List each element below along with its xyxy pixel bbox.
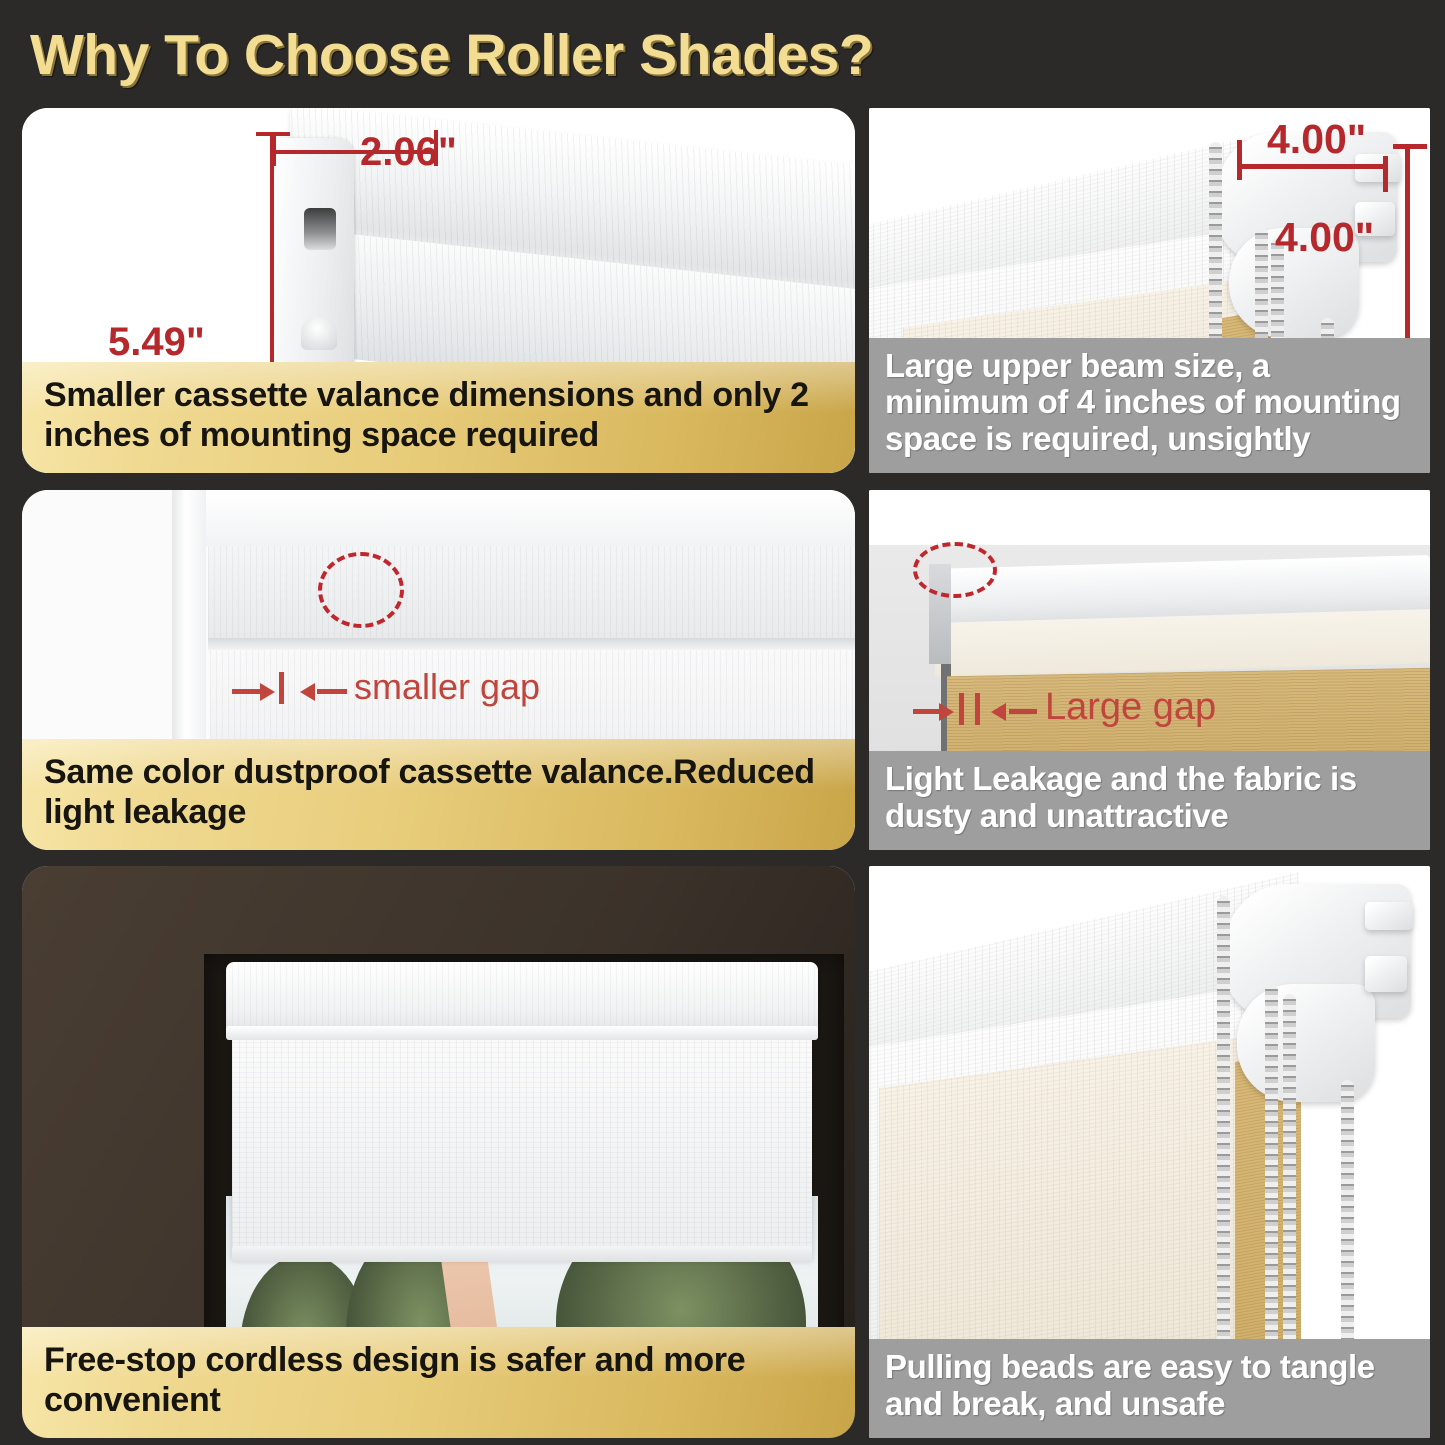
bead-chain-right [1341,1080,1354,1380]
height-dimension-tick-top [256,132,290,136]
height-dimension-label: 5.49" [108,320,205,365]
cassette-valance-headrail [226,962,818,1034]
panel-caption-text: Light Leakage and the fabric is dusty an… [885,761,1414,834]
shade-fabric-panel [232,1032,812,1258]
panel-caption-bar: Light Leakage and the fabric is dusty an… [869,751,1430,850]
panel-caption-bar: Smaller cassette valance dimensions and … [22,362,855,473]
bead-chain-inner [1283,994,1296,1384]
gap-arrow-right-head [300,683,315,701]
valance-shadow-line [208,638,855,650]
lower-bracket-body [1237,984,1375,1102]
panel-caption-text: Same color dustproof cassette valance.Re… [44,753,833,832]
shade-bottom-rail [232,1246,812,1262]
width-dimension-tick-left [1237,140,1242,180]
panel-caption-text: Smaller cassette valance dimensions and … [44,376,833,455]
height-dimension-label: 4.00" [1275,214,1374,261]
bead-chain-left [1217,896,1230,1386]
panel-caption-text: Pulling beads are easy to tangle and bre… [885,1349,1414,1422]
gap-callout-label: smaller gap [354,666,540,708]
cassette-end-bracket [274,138,354,396]
panel-cordless-design: Free-stop cordless design is safer and m… [22,866,855,1438]
gap-highlight-ellipse-icon [913,542,997,598]
height-dimension-line [1405,146,1410,346]
panel-caption-text: Free-stop cordless design is safer and m… [44,1341,833,1420]
gap-arrow-right-head [991,703,1006,721]
cassette-valance [208,546,855,638]
width-dimension-label: 4.00" [1267,116,1366,163]
comparison-grid: 2.06" 5.49" Smaller cassette valance dim… [0,108,1445,1445]
panel-light-leakage: Large gap Light Leakage and the fabric i… [869,490,1430,850]
panel-pulling-beads: Pulling beads are easy to tangle and bre… [869,866,1430,1438]
gap-measure-bar [279,672,284,704]
gap-arrow-left-shaft [913,709,941,714]
gap-callout-label: Large gap [1045,686,1216,729]
gap-arrow-right-shaft [317,689,347,694]
bracket-mount-tab-bottom [1365,956,1407,992]
bead-chain-middle [1265,984,1278,1384]
gap-highlight-ellipse-icon [318,552,404,628]
panel-caption-bar: Pulling beads are easy to tangle and bre… [869,1339,1430,1438]
bracket-mount-tab-top [1365,902,1413,930]
panel-dustproof-valance: smaller gap Same color dustproof cassett… [22,490,855,850]
window-header-trim [172,490,855,546]
width-dimension-label: 2.06" [360,130,457,175]
panel-caption-bar: Large upper beam size, a minimum of 4 in… [869,338,1430,473]
ceiling-area [869,490,1430,545]
panel-large-upper-beam: 4.00" 4.00" Large upper beam size, a min… [869,108,1430,473]
panel-caption-bar: Free-stop cordless design is safer and m… [22,1327,855,1438]
page-title: Why To Choose Roller Shades? [30,22,873,88]
height-dimension-tick-top [1393,144,1427,149]
panel-caption-text: Large upper beam size, a minimum of 4 in… [885,348,1414,457]
gap-measure-bar-left [959,693,964,725]
valance-lower-lip [226,1026,818,1040]
gap-measure-bar-right [975,693,980,725]
panel-cassette-dimensions: 2.06" 5.49" Smaller cassette valance dim… [22,108,855,473]
panel-caption-bar: Same color dustproof cassette valance.Re… [22,739,855,850]
gap-arrow-left-head [939,703,954,721]
width-dimension-line [1239,164,1387,169]
bracket-slot-icon [304,208,336,250]
gap-arrow-right-shaft [1009,709,1037,714]
gap-arrow-left-shaft [232,689,262,694]
gap-arrow-left-head [260,683,275,701]
bracket-screw-knob [301,316,337,350]
width-dimension-tick-right [1383,156,1388,192]
